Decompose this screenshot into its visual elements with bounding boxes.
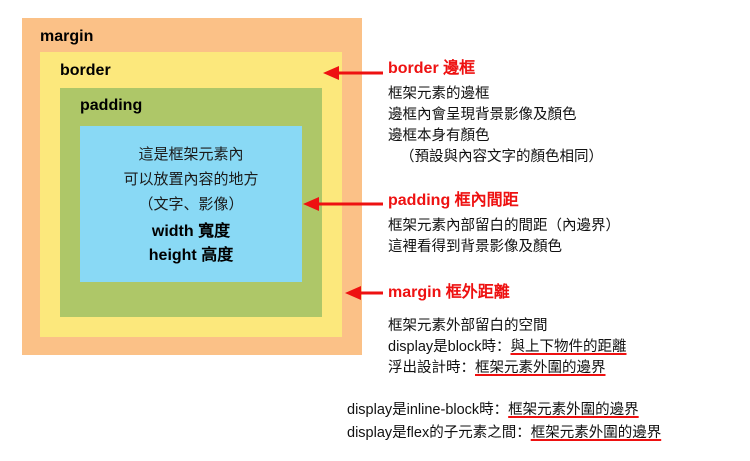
callout-padding-body: 框架元素內部留白的間距（內邊界） 這裡看得到背景影像及顏色 xyxy=(388,216,620,258)
box-model-diagram-canvas: margin border padding 這是框架元素內 可以放置內容的地方 … xyxy=(0,0,750,461)
footnote-2-prefix: display是flex的子元素之間： xyxy=(347,425,531,441)
callout-border-title: border 邊框 xyxy=(388,60,603,78)
callout-margin-line-2-prefix: display是block時： xyxy=(388,339,511,355)
content-width-label: width 寬度 xyxy=(80,220,302,244)
callout-border-line-4: （預設與內容文字的顏色相同） xyxy=(388,147,603,168)
arrow-to-margin-icon xyxy=(343,283,385,303)
padding-box: padding 這是框架元素內 可以放置內容的地方 （文字、影像） width … xyxy=(60,88,322,317)
callout-margin-line-2: display是block時：與上下物件的距離 xyxy=(388,337,627,358)
border-box-label: border xyxy=(60,62,111,80)
callout-padding-line-1: 框架元素內部留白的間距（內邊界） xyxy=(388,216,620,237)
footnote-1-prefix: display是inline-block時： xyxy=(347,402,508,418)
arrow-to-padding-icon xyxy=(301,194,385,214)
callout-margin-line-3: 浮出設計時：框架元素外圍的邊界 xyxy=(388,358,627,379)
border-box: border padding 這是框架元素內 可以放置內容的地方 （文字、影像）… xyxy=(40,52,342,337)
callout-margin-line-3-emphasis: 框架元素外圍的邊界 xyxy=(475,360,606,376)
callout-padding-title: padding 框內間距 xyxy=(388,192,620,210)
content-height-label: height 高度 xyxy=(80,244,302,268)
callout-border-line-3: 邊框本身有顏色 xyxy=(388,126,603,147)
padding-box-label: padding xyxy=(80,97,142,115)
arrow-to-border-icon xyxy=(321,63,385,83)
callout-border: border 邊框 框架元素的邊框 邊框內會呈現背景影像及顏色 邊框本身有顏色 … xyxy=(388,60,603,168)
footnotes: display是inline-block時：框架元素外圍的邊界 display是… xyxy=(347,399,661,445)
callout-border-line-2: 邊框內會呈現背景影像及顏色 xyxy=(388,105,603,126)
callout-padding-line-2: 這裡看得到背景影像及顏色 xyxy=(388,237,620,258)
margin-box-label: margin xyxy=(40,28,93,46)
content-line-3: （文字、影像） xyxy=(80,192,302,217)
callout-margin-title: margin 框外距離 xyxy=(388,284,627,302)
callout-border-line-1: 框架元素的邊框 xyxy=(388,84,603,105)
callout-margin-line-1: 框架元素外部留白的空間 xyxy=(388,316,627,337)
callout-margin-line-2-emphasis: 與上下物件的距離 xyxy=(511,339,627,355)
footnote-line-1: display是inline-block時：框架元素外圍的邊界 xyxy=(347,399,661,422)
footnote-line-2: display是flex的子元素之間：框架元素外圍的邊界 xyxy=(347,422,661,445)
callout-margin-body: 框架元素外部留白的空間 display是block時：與上下物件的距離 浮出設計… xyxy=(388,316,627,379)
margin-box: margin border padding 這是框架元素內 可以放置內容的地方 … xyxy=(22,18,362,355)
content-box-dimensions: width 寬度 height 高度 xyxy=(80,220,302,268)
content-line-2: 可以放置內容的地方 xyxy=(80,167,302,192)
footnote-2-emphasis: 框架元素外圍的邊界 xyxy=(531,425,662,441)
callout-border-body: 框架元素的邊框 邊框內會呈現背景影像及顏色 邊框本身有顏色 （預設與內容文字的顏… xyxy=(388,84,603,168)
content-line-1: 這是框架元素內 xyxy=(80,142,302,167)
callout-margin: margin 框外距離 框架元素外部留白的空間 display是block時：與… xyxy=(388,284,627,379)
content-box-description: 這是框架元素內 可以放置內容的地方 （文字、影像） xyxy=(80,142,302,217)
callout-padding: padding 框內間距 框架元素內部留白的間距（內邊界） 這裡看得到背景影像及… xyxy=(388,192,620,258)
callout-margin-line-3-prefix: 浮出設計時： xyxy=(388,360,475,376)
content-box: 這是框架元素內 可以放置內容的地方 （文字、影像） width 寬度 heigh… xyxy=(80,126,302,282)
footnote-1-emphasis: 框架元素外圍的邊界 xyxy=(508,402,639,418)
